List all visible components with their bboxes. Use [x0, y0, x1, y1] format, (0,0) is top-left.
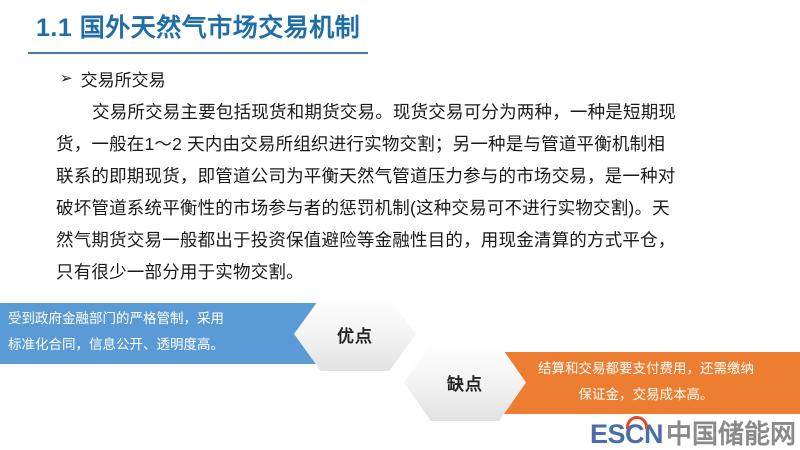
- body-paragraph: 交易所交易主要包括现货和期货交易。现货交易可分为两种，一种是短期现 货，一般在1…: [56, 96, 756, 288]
- advantage-text-line: 受到政府金融部门的严格管制，采用: [8, 306, 298, 332]
- disadvantage-text: 结算和交易都要支付费用，还需缴纳 保证金，交易成本高。: [500, 356, 792, 408]
- paragraph-line: 然气期货交易一般都出于投资保值避险等金融性目的，用现金清算的方式平仓，: [56, 224, 756, 256]
- disadvantage-text-line: 保证金，交易成本高。: [500, 382, 792, 408]
- advantage-text: 受到政府金融部门的严格管制，采用 标准化合同，信息公开、透明度高。: [8, 306, 298, 358]
- paragraph-line: 只有很少一部分用于实物交割。: [56, 256, 756, 288]
- paragraph-line: 交易所交易主要包括现货和期货交易。现货交易可分为两种，一种是短期现: [56, 96, 756, 128]
- paragraph-line: 货，一般在1～2 天内由交易所组织进行实物交割；另一种是与管道平衡机制相: [56, 128, 756, 160]
- watermark-site-name: 中国储能网: [666, 414, 796, 450]
- paragraph-line: 联系的即期现货，即管道公司为平衡天然气管道压力参与的市场交易，是一种对: [56, 160, 756, 192]
- bullet-heading: ➢ 交易所交易: [60, 66, 166, 91]
- disadvantage-text-line: 结算和交易都要支付费用，还需缴纳: [500, 356, 792, 382]
- watermark-arc-icon: [626, 416, 648, 429]
- advantage-badge-label: 优点: [337, 322, 373, 347]
- watermark: ESCN 中国储能网: [590, 414, 796, 450]
- bullet-heading-label: 交易所交易: [81, 66, 166, 91]
- slide-canvas: 1.1 国外天然气市场交易机制 ➢ 交易所交易 交易所交易主要包括现货和期货交易…: [0, 0, 800, 450]
- title-block: 1.1 国外天然气市场交易机制: [0, 8, 800, 56]
- advantage-text-line: 标准化合同，信息公开、透明度高。: [8, 332, 298, 358]
- page-title: 1.1 国外天然气市场交易机制: [36, 8, 360, 44]
- paragraph-line: 破坏管道系统平衡性的市场参与者的惩罚机制(这种交易可不进行实物交割)。天: [56, 192, 756, 224]
- disadvantage-badge-label: 缺点: [447, 370, 483, 395]
- arrow-bullet-icon: ➢: [60, 71, 73, 86]
- title-underline: [28, 52, 368, 54]
- watermark-brand: ESCN: [590, 419, 663, 450]
